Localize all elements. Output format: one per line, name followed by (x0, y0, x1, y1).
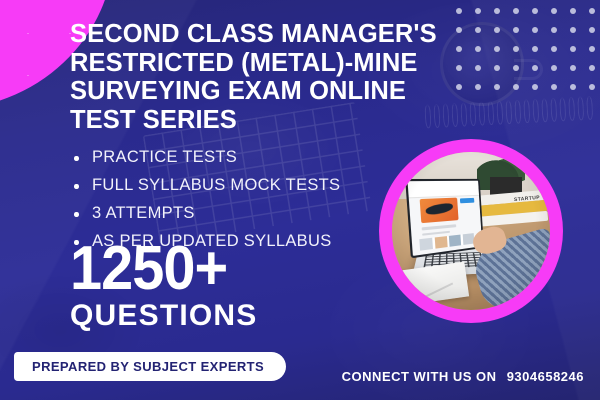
question-count-number: 1250+ (70, 240, 244, 297)
contact-label: CONNECT WITH US ON (342, 369, 497, 384)
contact-phone-number[interactable]: 9304658246 (507, 369, 584, 384)
contact-line: CONNECT WITH US ON 9304658246 (342, 369, 584, 384)
photo-ring-border: STARTUP (379, 139, 563, 323)
decorative-dot-grid (456, 8, 600, 103)
laptop-workspace-photo: STARTUP (392, 152, 550, 310)
question-count-label: QUESTIONS (70, 301, 258, 331)
prepared-by-badge: PREPARED BY SUBJECT EXPERTS (14, 352, 286, 381)
photo-vignette (392, 152, 550, 310)
question-count-block: 1250+ QUESTIONS (70, 240, 258, 331)
page-title: SECOND CLASS MANAGER'S RESTRICTED (METAL… (70, 20, 470, 134)
promotional-banner: SECOND CLASS MANAGER'S RESTRICTED (METAL… (0, 0, 600, 400)
